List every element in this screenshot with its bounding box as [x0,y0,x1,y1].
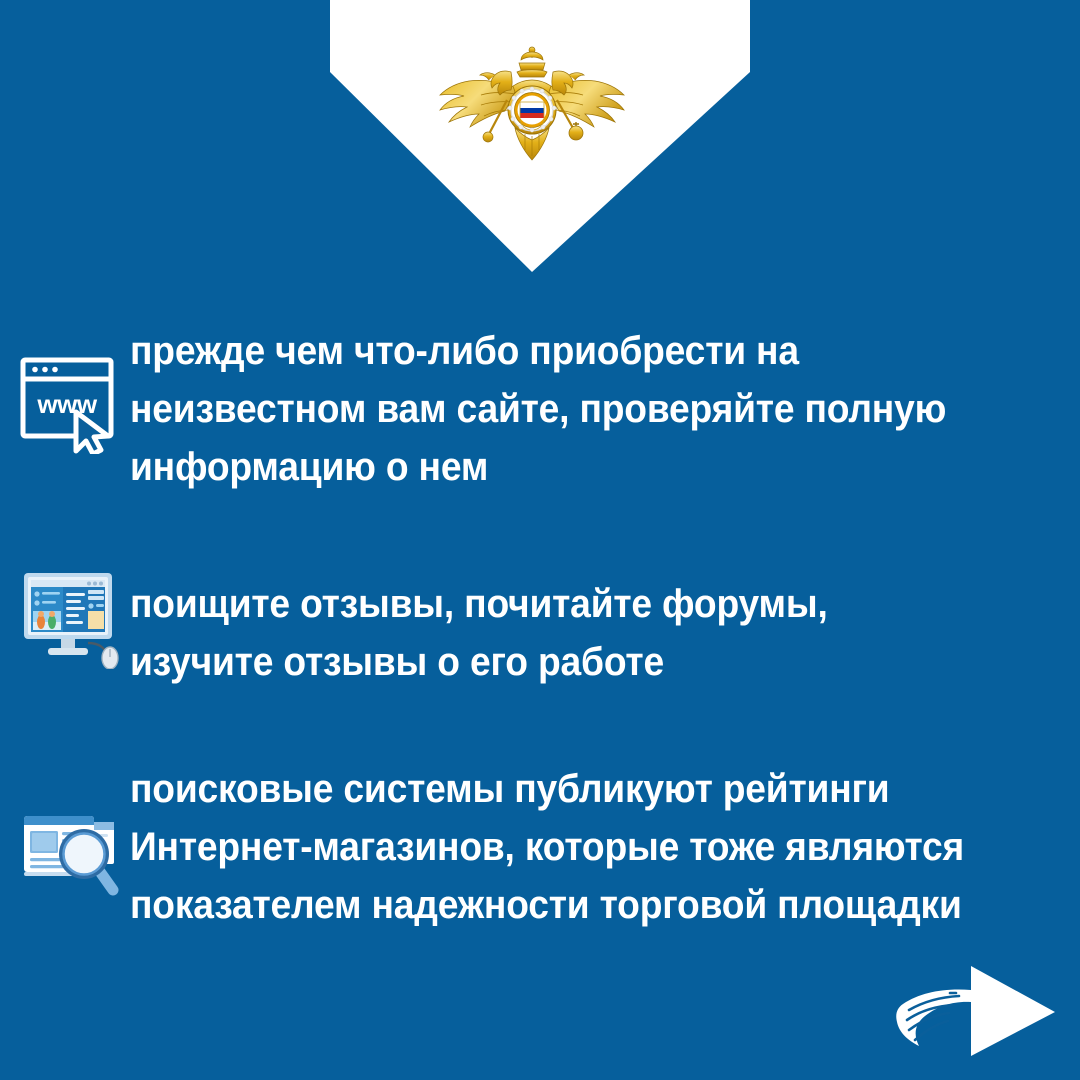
poster-canvas: www прежде чем что-либо приобрести на не… [0,0,1080,1080]
svg-text:www: www [36,389,97,419]
tip-1-line-3: информацию о нем [130,438,1004,496]
tip-2-icon-slot [10,565,130,669]
tip-2-text: поищите отзывы, почитайте форумы, изучит… [130,565,1004,691]
tip-3-line-1: поисковые системы публикуют рейтинги [130,760,1004,818]
tip-1-text: прежде чем что-либо приобрести на неизве… [130,322,1004,496]
tip-row-1: www прежде чем что-либо приобрести на не… [10,322,1070,496]
russian-mvd-emblem [437,42,627,177]
tip-3-line-3: показателем надежности торговой площадки [130,876,1004,934]
tip-1-line-1: прежде чем что-либо приобрести на [130,322,1004,380]
tip-3-text: поисковые системы публикуют рейтинги Инт… [130,760,1004,934]
tip-3-icon-slot [10,760,130,904]
search-magnifier-windows-icon [16,808,124,904]
tip-2-line-1: поищите отзывы, почитайте форумы, [130,575,1004,633]
tip-3-line-2: Интернет-магазинов, которые тоже являютс… [130,818,1004,876]
tip-row-2: поищите отзывы, почитайте форумы, изучит… [10,565,1070,691]
monitor-reviews-forum-icon [15,565,125,669]
tip-2-line-2: изучите отзывы о его работе [130,633,1004,691]
arrow-right-swipe-icon[interactable] [893,962,1061,1060]
tip-row-3: поисковые системы публикуют рейтинги Инт… [10,760,1070,934]
tip-1-icon-slot: www [10,322,130,454]
tip-1-line-2: неизвестном вам сайте, проверяйте полную [130,380,1004,438]
www-browser-cursor-icon: www [18,350,122,454]
